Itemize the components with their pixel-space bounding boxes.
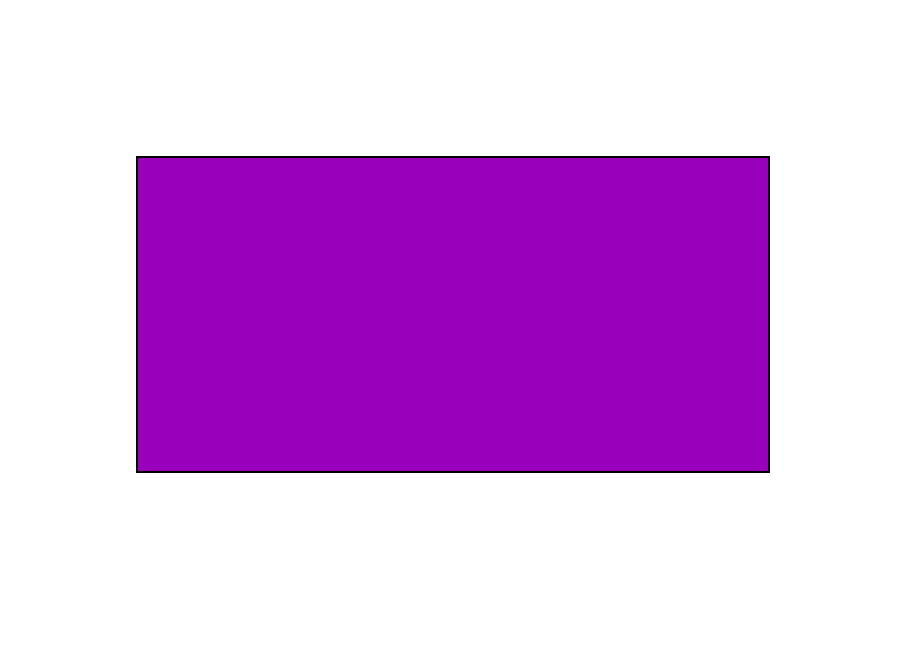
saturation-field-canvas [138,158,768,471]
plot-area [136,156,770,473]
contour-plot-figure [0,0,904,654]
